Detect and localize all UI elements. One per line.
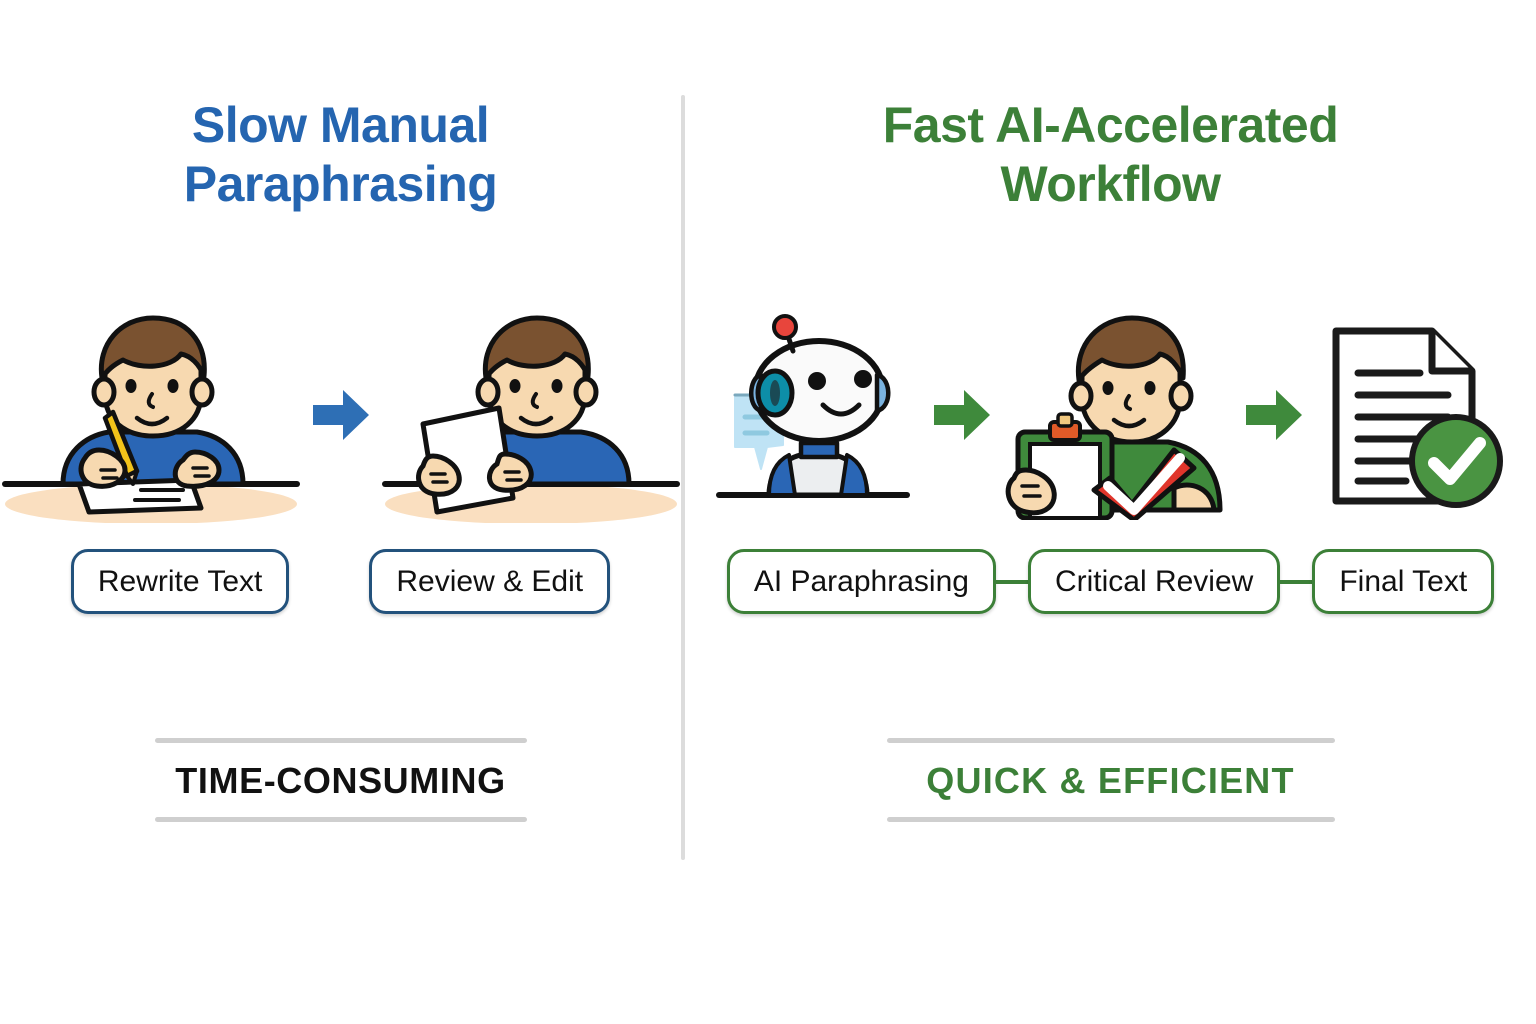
step-critical-review-label: Critical Review — [1055, 565, 1253, 599]
step-review-edit-label: Review & Edit — [396, 565, 583, 599]
left-panel: Slow Manual Paraphrasing — [0, 0, 681, 1024]
right-arrow-icon — [311, 387, 371, 443]
person-critical-review-illustration — [998, 310, 1238, 525]
connector-2 — [1280, 580, 1312, 584]
right-title-line-2: Workflow — [685, 155, 1536, 214]
right-step-row: AI Paraphrasing Critical Review Final Te… — [685, 549, 1536, 614]
left-footer-label: TIME-CONSUMING — [175, 760, 505, 802]
step-ai-paraphrasing-label: AI Paraphrasing — [754, 565, 969, 599]
step-rewrite-text[interactable]: Rewrite Text — [71, 549, 290, 614]
step-final-text-label: Final Text — [1339, 565, 1467, 599]
ai-robot-illustration — [711, 313, 926, 523]
right-footer-banner: QUICK & EFFICIENT — [685, 738, 1536, 822]
right-arrow-icon — [932, 387, 992, 443]
person-writing-icon — [1, 308, 301, 523]
right-rule-bottom — [887, 817, 1335, 822]
person-reviewing-icon — [381, 308, 681, 523]
left-rule-top — [155, 738, 527, 743]
clipboard-review-icon — [998, 310, 1238, 520]
right-arrow-icon — [1244, 387, 1304, 443]
left-arrow-1 — [311, 387, 371, 448]
connector-1 — [996, 580, 1028, 584]
left-rule-bottom — [155, 817, 527, 822]
right-title-line-1: Fast AI-Accelerated — [685, 96, 1536, 155]
step-rewrite-text-label: Rewrite Text — [98, 565, 263, 599]
step-final-text[interactable]: Final Text — [1312, 549, 1494, 614]
right-arrow-2 — [1244, 387, 1304, 448]
person-reviewing-illustration — [381, 308, 681, 528]
right-rule-top — [887, 738, 1335, 743]
step-ai-paraphrasing[interactable]: AI Paraphrasing — [727, 549, 996, 614]
left-panel-title: Slow Manual Paraphrasing — [0, 96, 681, 214]
right-arrow-1 — [932, 387, 992, 448]
robot-icon — [711, 313, 926, 518]
right-footer-label: QUICK & EFFICIENT — [926, 760, 1294, 802]
step-critical-review[interactable]: Critical Review — [1028, 549, 1280, 614]
document-check-icon — [1310, 315, 1510, 515]
left-title-line-2: Paraphrasing — [0, 155, 681, 214]
step-review-edit[interactable]: Review & Edit — [369, 549, 610, 614]
final-document-illustration — [1310, 315, 1510, 520]
left-step-row: Rewrite Text Review & Edit — [0, 549, 681, 614]
right-illustration-row — [685, 300, 1536, 535]
left-footer-banner: TIME-CONSUMING — [0, 738, 681, 822]
infographic-canvas: Slow Manual Paraphrasing — [0, 0, 1536, 1024]
left-title-line-1: Slow Manual — [0, 96, 681, 155]
left-illustration-row — [0, 300, 681, 535]
right-panel-title: Fast AI-Accelerated Workflow — [685, 96, 1536, 214]
person-writing-illustration — [1, 308, 301, 528]
right-panel: Fast AI-Accelerated Workflow — [685, 0, 1536, 1024]
